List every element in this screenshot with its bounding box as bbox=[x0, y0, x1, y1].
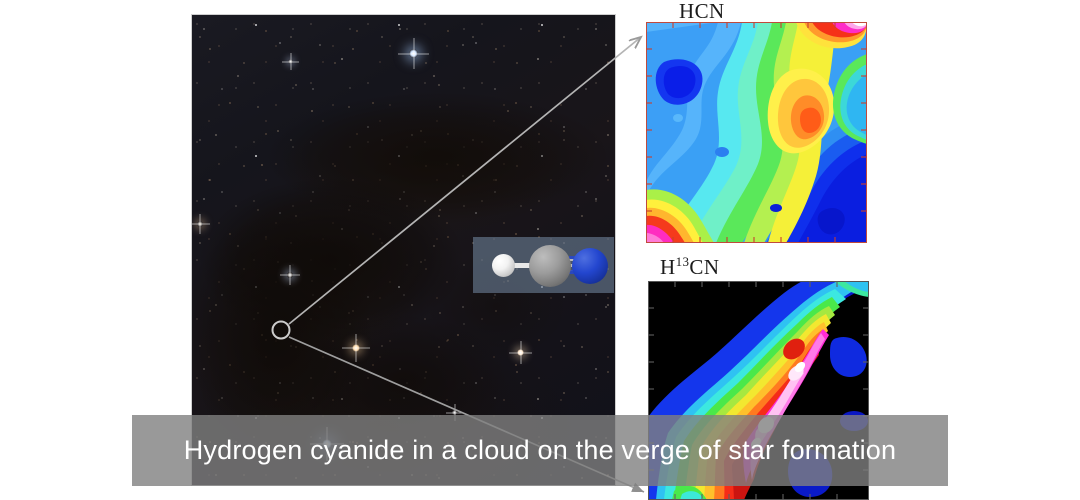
slide-caption: Hydrogen cyanide in a cloud on the verge… bbox=[132, 415, 948, 486]
h13cn-map-label-head: H bbox=[660, 255, 676, 279]
slide-canvas: HCN bbox=[0, 0, 1080, 500]
hydrogen-atom-sphere bbox=[492, 254, 515, 277]
h13cn-map-label-tail: CN bbox=[689, 255, 719, 279]
nitrogen-atom-sphere bbox=[572, 248, 608, 284]
h13cn-map-label-superscript: 13 bbox=[676, 254, 690, 269]
hcn-molecule-model bbox=[473, 237, 614, 293]
hcn-map-label: HCN bbox=[679, 0, 725, 24]
hcn-map bbox=[646, 22, 867, 243]
hcn-map-label-text: HCN bbox=[679, 0, 725, 23]
carbon-atom-sphere bbox=[529, 245, 571, 287]
h13cn-map-label: H13CN bbox=[660, 255, 719, 280]
